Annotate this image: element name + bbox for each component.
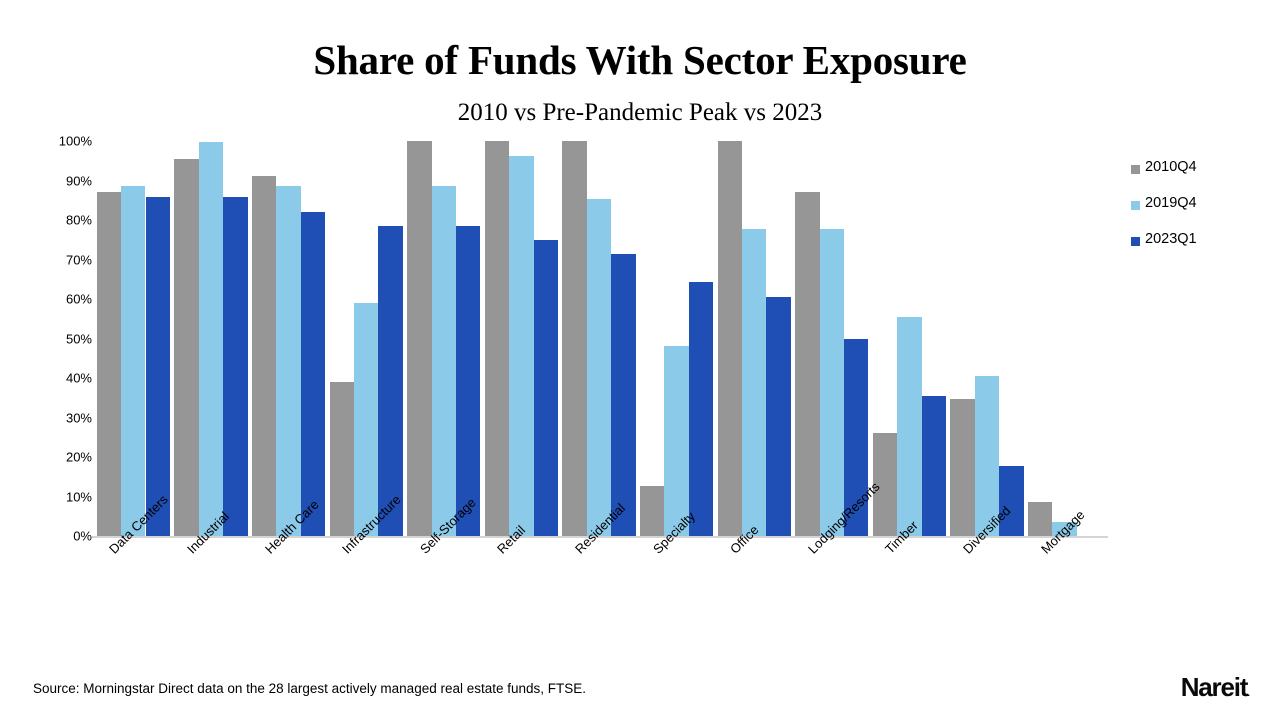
bar[interactable]: [897, 317, 921, 536]
legend-item-label: 2010Q4: [1145, 159, 1197, 175]
bar[interactable]: [174, 159, 198, 536]
bar[interactable]: [820, 229, 844, 536]
bar-group: [950, 141, 1023, 536]
bar[interactable]: [1028, 502, 1052, 536]
bar[interactable]: [640, 486, 664, 536]
legend-swatch-icon: [1131, 165, 1140, 174]
chart-container: Share of Funds With Sector Exposure 2010…: [0, 0, 1280, 720]
bar[interactable]: [456, 226, 480, 536]
bar[interactable]: [795, 192, 819, 536]
bar[interactable]: [97, 192, 121, 536]
y-axis-tick-label: 40%: [4, 371, 92, 386]
bar[interactable]: [689, 282, 713, 536]
y-axis-tick-label: 60%: [4, 292, 92, 307]
bar-group: [252, 141, 325, 536]
y-axis-tick-label: 100%: [4, 134, 92, 149]
bar[interactable]: [432, 186, 456, 536]
bar[interactable]: [766, 297, 790, 536]
bar-group: [485, 141, 558, 536]
bar[interactable]: [742, 229, 766, 536]
legend-item-label: 2023Q1: [1145, 231, 1197, 247]
bar[interactable]: [378, 226, 402, 536]
bar[interactable]: [664, 346, 688, 536]
y-axis-tick-label: 0%: [4, 529, 92, 544]
bar[interactable]: [999, 466, 1023, 536]
bar-group: [562, 141, 635, 536]
bar[interactable]: [485, 141, 509, 536]
bar[interactable]: [562, 141, 586, 536]
y-axis-tick-label: 90%: [4, 173, 92, 188]
bar[interactable]: [611, 254, 635, 536]
bar-group: [640, 141, 713, 536]
nareit-logo: Nareit.: [1181, 672, 1250, 703]
bar[interactable]: [276, 186, 300, 536]
bar[interactable]: [950, 399, 974, 536]
plot-area: [96, 141, 1105, 536]
bar[interactable]: [223, 197, 247, 536]
bar-group: [407, 141, 480, 536]
bar[interactable]: [922, 396, 946, 536]
bar[interactable]: [301, 212, 325, 536]
bar-group: [174, 141, 247, 536]
legend-swatch-icon: [1131, 237, 1140, 246]
bar[interactable]: [146, 197, 170, 536]
bar[interactable]: [509, 156, 533, 536]
bar-group: [330, 141, 403, 536]
y-axis-tick-label: 50%: [4, 331, 92, 346]
y-axis-tick-label: 80%: [4, 213, 92, 228]
bar[interactable]: [534, 240, 558, 536]
y-axis-tick-label: 70%: [4, 252, 92, 267]
logo-registered-mark: .: [1247, 688, 1250, 699]
legend-swatch-icon: [1131, 201, 1140, 210]
bar[interactable]: [199, 142, 223, 536]
logo-text: Nareit: [1181, 672, 1248, 702]
bar[interactable]: [354, 303, 378, 536]
bar[interactable]: [407, 141, 431, 536]
bar-group: [873, 141, 946, 536]
chart-subtitle: 2010 vs Pre-Pandemic Peak vs 2023: [0, 99, 1280, 127]
bar[interactable]: [330, 382, 354, 536]
source-note: Source: Morningstar Direct data on the 2…: [33, 681, 586, 696]
y-axis-tick-label: 10%: [4, 489, 92, 504]
bar[interactable]: [718, 141, 742, 536]
legend-item-label: 2019Q4: [1145, 195, 1197, 211]
y-axis-tick-label: 30%: [4, 410, 92, 425]
bar[interactable]: [121, 186, 145, 536]
bar-group: [97, 141, 170, 536]
bar-group: [795, 141, 868, 536]
bar-group: [1028, 141, 1101, 536]
bar[interactable]: [252, 176, 276, 536]
bar-group: [718, 141, 791, 536]
chart-title: Share of Funds With Sector Exposure: [0, 36, 1280, 84]
bar[interactable]: [587, 199, 611, 536]
y-axis-tick-label: 20%: [4, 450, 92, 465]
